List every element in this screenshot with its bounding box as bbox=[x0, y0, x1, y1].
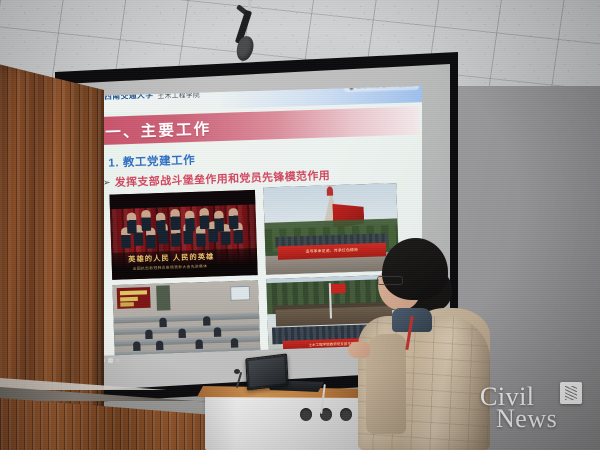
slide-section-heading: 1. 教工党建工作 bbox=[108, 151, 195, 171]
desk-microphone-icon bbox=[234, 369, 240, 374]
tiered-desks bbox=[113, 307, 260, 356]
presenter bbox=[352, 238, 492, 450]
podium-laptop-screen[interactable] bbox=[245, 353, 288, 390]
photo-banner-text: 追寻革命足迹，传承红色精神 bbox=[305, 248, 358, 255]
slide-photo-group-portrait: 英雄的人民 人民的英雄 全国抗击新冠肺炎疫情表彰大会先进集体 bbox=[109, 190, 257, 280]
projector-status-dot-icon bbox=[116, 359, 119, 362]
slide-title-bar: 一、主要工作 bbox=[92, 106, 420, 145]
classroom-window bbox=[230, 286, 250, 301]
slide-title: 一、主要工作 bbox=[105, 117, 212, 142]
classroom-door bbox=[156, 285, 170, 310]
glasses-icon bbox=[377, 276, 403, 285]
hair bbox=[382, 238, 448, 300]
projector-source-icon[interactable] bbox=[108, 358, 113, 363]
hand bbox=[348, 342, 370, 358]
classroom-projection bbox=[117, 287, 151, 309]
presentation-room-photo: 西南交通大学 土木工程学院 正在 讲话 土木工程学院 一、主要工作 1. 教工党… bbox=[0, 0, 600, 450]
red-flag-icon bbox=[331, 284, 346, 294]
podium-control-holes[interactable] bbox=[300, 408, 360, 424]
slide-photo-lecture-hall bbox=[112, 280, 260, 356]
monument-finial bbox=[327, 186, 334, 196]
jacket-arm bbox=[366, 334, 406, 434]
